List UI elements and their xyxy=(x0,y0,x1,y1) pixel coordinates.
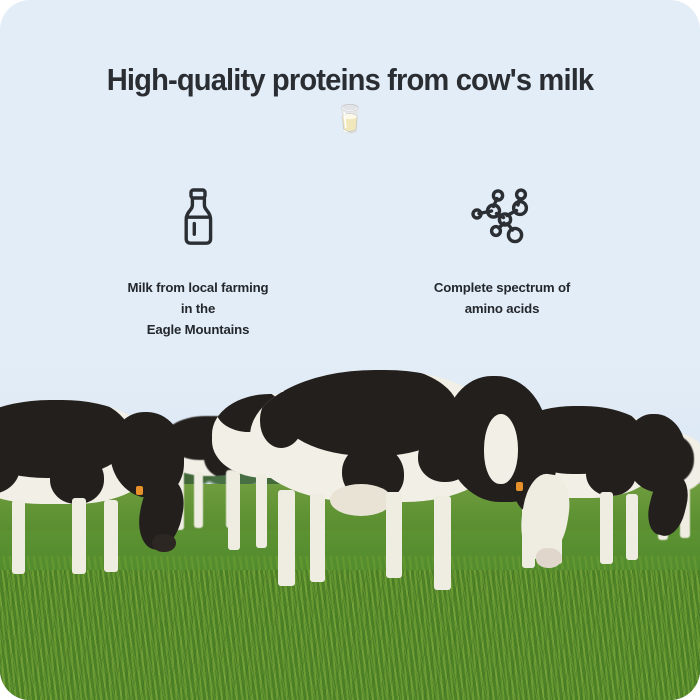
feature-caption-amino-acids: Complete spectrum of amino acids xyxy=(434,277,570,319)
caption-line-2: in the xyxy=(128,298,269,319)
feature-local-farming: Milk from local farming in the Eagle Mou… xyxy=(82,186,314,340)
caption-line-1: Complete spectrum of xyxy=(434,277,570,298)
glass-of-milk-emoji: 🥛 xyxy=(0,104,700,134)
feature-amino-acids: Complete spectrum of amino acids xyxy=(386,186,618,319)
caption-line-3: Eagle Mountains xyxy=(128,319,269,340)
molecule-icon xyxy=(471,186,533,248)
ear-tag xyxy=(516,482,523,491)
ear-tag xyxy=(136,486,143,495)
caption-line-1: Milk from local farming xyxy=(128,277,269,298)
milk-bottle-icon xyxy=(172,186,224,248)
feature-list: Milk from local farming in the Eagle Mou… xyxy=(0,186,700,340)
cow-left-grazing xyxy=(0,400,204,590)
cows-grazing-pasture-photo xyxy=(0,360,700,700)
product-benefits-card: High-quality proteins from cow's milk 🥛 … xyxy=(0,0,700,700)
feature-caption-local-farming: Milk from local farming in the Eagle Mou… xyxy=(128,277,269,340)
page-title: High-quality proteins from cow's milk xyxy=(16,63,685,98)
caption-line-2: amino acids xyxy=(434,298,570,319)
info-block: High-quality proteins from cow's milk 🥛 … xyxy=(0,0,700,400)
